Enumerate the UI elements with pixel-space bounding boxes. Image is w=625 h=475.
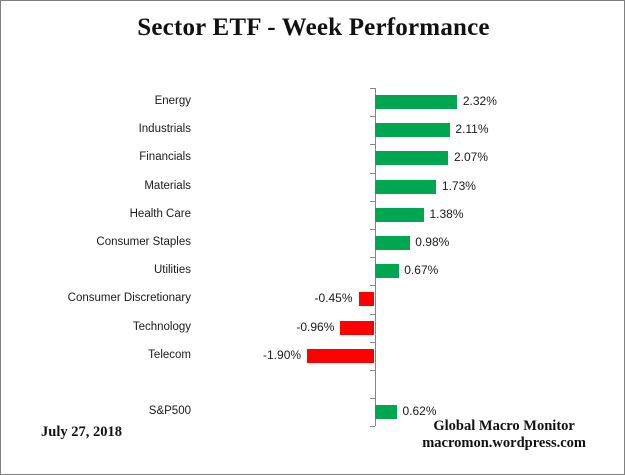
footer-credit-source: Global Macro Monitor	[422, 418, 586, 435]
bar-row: Telecom-1.90%	[1, 342, 625, 370]
bar-row: Technology-0.96%	[1, 314, 625, 342]
value-label: 2.11%	[455, 122, 488, 136]
bar-positive	[375, 208, 424, 222]
bar-row: Industrials2.11%	[1, 116, 625, 144]
bar-positive	[375, 405, 397, 419]
bar-positive	[375, 236, 410, 250]
category-label: Utilities	[1, 264, 191, 276]
plot-area: Energy2.32%Industrials2.11%Financials2.0…	[1, 1, 625, 475]
category-label: Materials	[1, 180, 191, 192]
bar-row: Utilities0.67%	[1, 257, 625, 285]
bar-negative	[340, 321, 374, 335]
value-label: 2.32%	[463, 94, 497, 108]
value-label: -0.45%	[1, 291, 353, 305]
bar-row: Consumer Staples0.98%	[1, 229, 625, 257]
bar-row: Financials2.07%	[1, 144, 625, 172]
bar-negative	[359, 292, 375, 306]
footer-date: July 27, 2018	[41, 424, 122, 441]
bar-positive	[375, 123, 450, 137]
bar-row: Materials1.73%	[1, 173, 625, 201]
value-label: 0.62%	[403, 404, 437, 418]
value-label: -1.90%	[1, 348, 301, 362]
value-label: 2.07%	[454, 150, 488, 164]
value-label: -0.96%	[1, 320, 334, 334]
category-label: Financials	[1, 151, 191, 163]
category-label: Energy	[1, 95, 191, 107]
value-label: 1.73%	[442, 179, 476, 193]
value-label: 1.38%	[429, 207, 463, 221]
footer-credit-url: macromon.wordpress.com	[422, 435, 586, 452]
bar-row: Energy2.32%	[1, 88, 625, 116]
bar-row	[1, 370, 625, 398]
value-label: 0.98%	[415, 235, 449, 249]
bar-positive	[375, 180, 436, 194]
category-label: Consumer Staples	[1, 236, 191, 248]
category-label: Health Care	[1, 208, 191, 220]
category-label: S&P500	[1, 405, 191, 417]
chart-container: Sector ETF - Week Performance Energy2.32…	[0, 0, 625, 475]
axis-tick	[370, 426, 375, 427]
bar-positive	[375, 264, 399, 278]
bar-row: Health Care1.38%	[1, 201, 625, 229]
bar-positive	[375, 151, 448, 165]
bar-row: Consumer Discretionary-0.45%	[1, 285, 625, 313]
footer-credit: Global Macro Monitor macromon.wordpress.…	[422, 418, 586, 452]
value-label: 0.67%	[404, 263, 438, 277]
bar-positive	[375, 95, 457, 109]
category-label: Industrials	[1, 123, 191, 135]
bar-negative	[307, 349, 374, 363]
